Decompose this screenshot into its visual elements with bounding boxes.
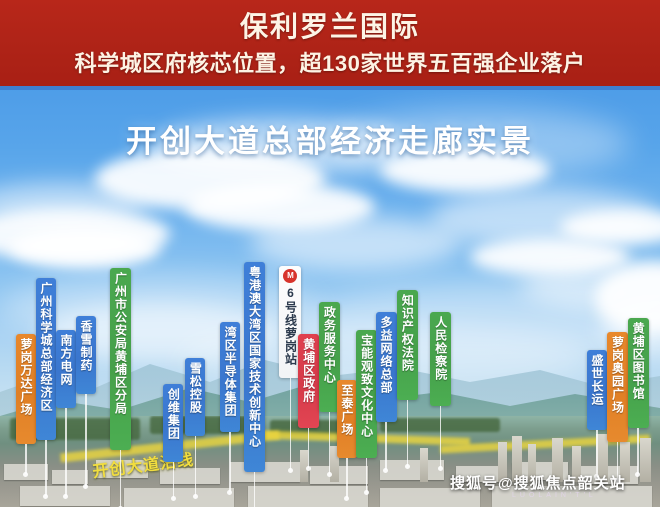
- landmark-marker[interactable]: 至泰广场: [337, 380, 357, 458]
- building-block: [310, 466, 368, 484]
- marker-stem: [385, 422, 387, 470]
- marker-label: 创维集团: [167, 388, 179, 440]
- marker-plate: 宝能观致文化中心: [356, 330, 377, 458]
- marker-stem: [173, 462, 175, 498]
- marker-plate: 人民检察院: [430, 312, 451, 406]
- marker-plate: 创维集团: [163, 384, 183, 462]
- building-block: [124, 488, 234, 507]
- banner-subtitle: 科学城区府核芯位置，超130家世界五百强企业落户: [0, 46, 660, 78]
- marker-stem: [290, 378, 292, 470]
- marker-stem: [120, 450, 122, 507]
- marker-plate: 盛世长运: [587, 350, 607, 430]
- landmark-marker[interactable]: 多益网络总部: [376, 312, 397, 422]
- marker-plate: 广州市公安局黄埔区分局: [110, 268, 131, 450]
- marker-stem: [65, 408, 67, 496]
- marker-label: 黄埔区政府: [303, 338, 315, 403]
- landmark-marker[interactable]: 广州市公安局黄埔区分局: [110, 268, 131, 450]
- marker-stem: [25, 444, 27, 474]
- landmark-marker[interactable]: 知识产权法院: [397, 290, 418, 400]
- building-block: [248, 486, 368, 507]
- marker-label: 黄埔区图书馆: [632, 322, 644, 400]
- marker-stem: [85, 394, 87, 486]
- marker-stem: [254, 472, 256, 507]
- marker-plate: 萝岗万达广场: [16, 334, 36, 444]
- marker-label: 雪松控股: [189, 362, 201, 414]
- marker-label: 萝岗奥园广场: [611, 336, 623, 414]
- landmark-marker[interactable]: 盛世长运: [587, 350, 607, 430]
- marker-label: 广州科学城总部经济区: [40, 282, 52, 412]
- marker-label: 南方电网: [60, 334, 72, 386]
- marker-plate: 粤港澳大湾区国家技术创新中心: [244, 262, 265, 472]
- marker-plate: 黄埔区政府: [298, 334, 319, 428]
- marker-stem: [440, 406, 442, 468]
- header-banner: 保利罗兰国际 科学城区府核芯位置，超130家世界五百强企业落户: [0, 0, 660, 90]
- landmark-marker[interactable]: 黄埔区政府: [298, 334, 319, 428]
- watermark-text: 搜狐号@搜狐焦点韶关站: [450, 472, 626, 493]
- marker-stem: [346, 458, 348, 498]
- marker-stem: [195, 436, 197, 496]
- marker-label: 粤港澳大湾区国家技术创新中心: [249, 266, 261, 448]
- marker-label: 湾区半导体集团: [224, 326, 236, 417]
- building-block: [52, 470, 88, 484]
- marker-stem: [596, 430, 598, 476]
- marker-label: 香雪制药: [80, 320, 92, 372]
- marker-plate: 广州科学城总部经济区: [36, 278, 56, 440]
- marker-label: 至泰广场: [341, 384, 353, 436]
- marker-plate: 香雪制药: [76, 316, 96, 394]
- marker-plate: 南方电网: [56, 330, 76, 408]
- cloud: [10, 228, 160, 268]
- marker-label: 知识产权法院: [401, 294, 413, 372]
- landmark-marker[interactable]: 宝能观致文化中心: [356, 330, 377, 458]
- marker-label: 政务服务中心: [323, 306, 335, 384]
- marker-stem: [407, 400, 409, 466]
- marker-stem: [45, 440, 47, 496]
- landmark-marker[interactable]: 人民检察院: [430, 312, 451, 406]
- marker-label: 广州市公安局黄埔区分局: [115, 272, 127, 415]
- landmark-marker[interactable]: 创维集团: [163, 384, 183, 462]
- marker-label: 多益网络总部: [380, 316, 392, 394]
- marker-label: 盛世长运: [591, 354, 603, 406]
- landmark-marker[interactable]: 黄埔区图书馆: [628, 318, 649, 428]
- marker-plate: 黄埔区图书馆: [628, 318, 649, 428]
- marker-stem: [308, 428, 310, 468]
- marker-stem: [637, 428, 639, 474]
- landmark-marker[interactable]: 湾区半导体集团: [220, 322, 240, 432]
- watermark: 搜狐号@搜狐焦点韶关站: [450, 472, 626, 493]
- building-block: [380, 460, 444, 480]
- marker-plate: 湾区半导体集团: [220, 322, 240, 432]
- metro-icon: M: [283, 269, 297, 283]
- landmark-marker[interactable]: 香雪制药: [76, 316, 96, 394]
- landmark-marker[interactable]: 广州科学城总部经济区: [36, 278, 56, 440]
- marker-label: 萝岗万达广场: [20, 338, 32, 416]
- landmark-marker[interactable]: 萝岗奥园广场: [607, 332, 628, 442]
- page-headline: 开创大道总部经济走廊实景: [0, 116, 660, 161]
- marker-plate: 至泰广场: [337, 380, 357, 458]
- landmark-marker[interactable]: 南方电网: [56, 330, 76, 408]
- cloud: [250, 216, 460, 270]
- marker-stem: [229, 432, 231, 492]
- marker-stem: [329, 412, 331, 474]
- watermark-subtext: LUOLAIN'T'L: [512, 492, 597, 499]
- high-rise: [640, 438, 651, 482]
- landmark-marker[interactable]: 粤港澳大湾区国家技术创新中心: [244, 262, 265, 472]
- marker-label: 6号线萝岗站: [284, 286, 296, 366]
- high-rise: [420, 448, 428, 482]
- screenshot-root: 开创大道沿线 开创大道总部经济走廊实景 萝岗万达广场广州科学城总部经济区南方电网…: [0, 0, 660, 507]
- marker-plate: 知识产权法院: [397, 290, 418, 400]
- landmark-marker[interactable]: 雪松控股: [185, 358, 205, 436]
- marker-label: 宝能观致文化中心: [361, 334, 373, 438]
- marker-plate: 雪松控股: [185, 358, 205, 436]
- marker-label: 人民检察院: [435, 316, 447, 381]
- landmark-marker[interactable]: 萝岗万达广场: [16, 334, 36, 444]
- marker-plate: 多益网络总部: [376, 312, 397, 422]
- banner-title: 保利罗兰国际: [0, 5, 660, 45]
- marker-plate: 萝岗奥园广场: [607, 332, 628, 442]
- marker-stem: [366, 458, 368, 492]
